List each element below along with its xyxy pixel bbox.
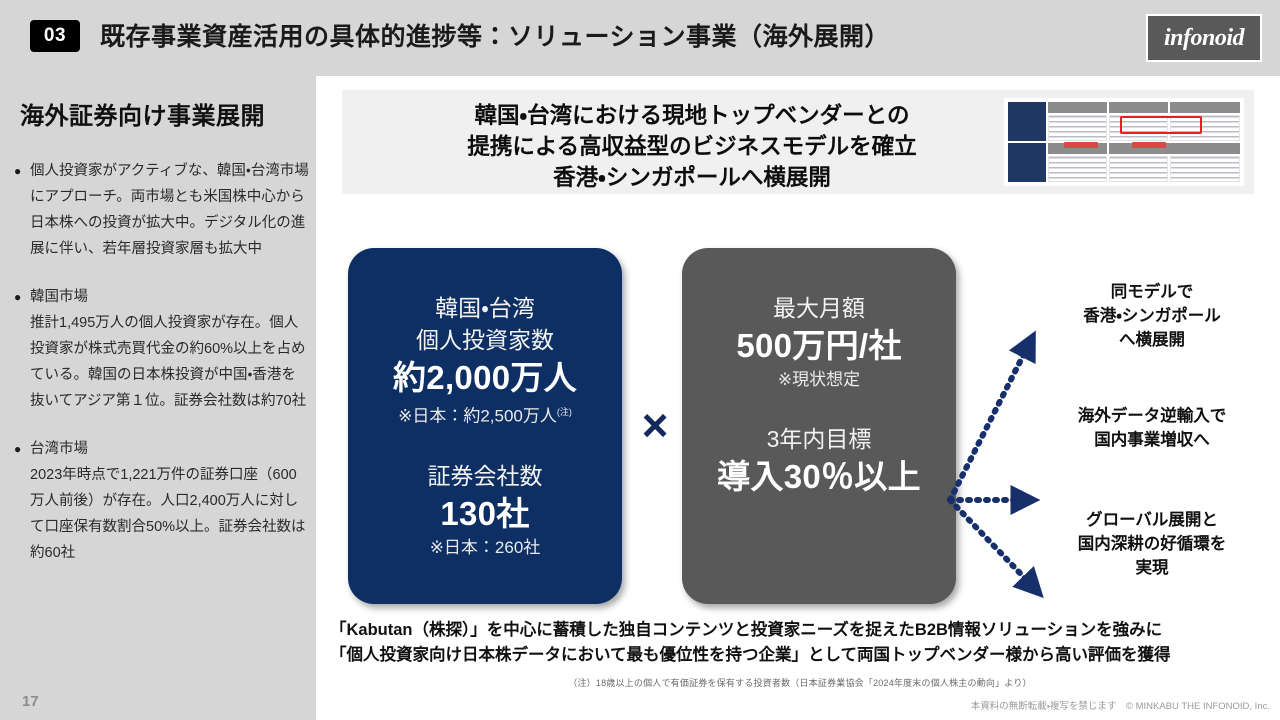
page-title: 既存事業資産活用の具体的進捗等：ソリューション事業（海外展開） xyxy=(100,17,890,53)
thumb-cell xyxy=(1170,102,1240,113)
company-logo-text: infonoid xyxy=(1164,25,1244,52)
copyright-notice: 本資料の無断転載・複写を禁じます © MINKABU THE INFONOID,… xyxy=(971,698,1270,712)
outcome-label-1: 同モデルで 香港・シンガポール へ横展開 xyxy=(1032,280,1272,352)
outcome-line-2: 国内事業増収へ xyxy=(1094,431,1210,449)
slide-root: 03 既存事業資産活用の具体的進捗等：ソリューション事業（海外展開） infon… xyxy=(0,0,1280,720)
metric-note: ※現状想定 xyxy=(682,367,956,393)
headline-line-3: 香港・シンガポールへ横展開 xyxy=(553,165,831,190)
outcome-line-2: 香港・シンガポール xyxy=(1083,307,1221,325)
thumb-cell xyxy=(1109,102,1168,113)
outcome-line-2: 国内深耕の好循環を xyxy=(1078,535,1227,553)
headline-line-1: 韓国・台湾における現地トップベンダーとの xyxy=(475,103,910,128)
main-content: 韓国・台湾における現地トップベンダーとの 提携による高収益型のビジネスモデルを確… xyxy=(316,76,1280,720)
arrow-to-outcome-1 xyxy=(950,338,1032,500)
metric-label: 韓国・台湾 xyxy=(348,292,622,324)
list-item: ● 韓国市場 推計1,495万人の個人投資家が存在。個人投資家が株式売買代金の約… xyxy=(14,284,310,414)
bullet-dot-icon: ● xyxy=(14,158,30,262)
bullet-text: 推計1,495万人の個人投資家が存在。個人投資家が株式売買代金の約60%以上を占… xyxy=(30,315,306,409)
thumb-vendor-logo-icon xyxy=(1132,142,1166,148)
metric-value: 導入30％以上 xyxy=(682,455,956,498)
outcome-line-3: 実現 xyxy=(1136,559,1169,577)
metric-label: 個人投資家数 xyxy=(348,324,622,356)
metric-block-brokerages: 証券会社数 130社 ※日本：260社 xyxy=(348,430,622,561)
multiply-operator-icon: × xyxy=(628,398,682,452)
headline-line-2: 提携による高収益型のビジネスモデルを確立 xyxy=(467,134,916,159)
metric-note: ※日本：260社 xyxy=(348,535,622,561)
summary-line-1: 「Kabutan（株探）」を中心に蓄積した独自コンテンツと投資家ニーズを捉えたB… xyxy=(330,618,1266,643)
arrow-to-outcome-3 xyxy=(950,500,1038,592)
bullet-dot-icon: ● xyxy=(14,436,30,566)
list-item: ● 台湾市場 2023年時点で1,221万件の証券口座（600万人前後）が存在。… xyxy=(14,436,310,566)
summary-line-2: 「個人投資家向け日本株データにおいて最も優位性を持つ企業」として両国トップベンダ… xyxy=(330,643,1266,668)
outcome-label-2: 海外データ逆輸入で 国内事業増収へ xyxy=(1032,404,1272,452)
headline-text: 韓国・台湾における現地トップベンダーとの 提携による高収益型のビジネスモデルを確… xyxy=(342,100,1042,193)
metric-label: 最大月額 xyxy=(682,292,956,324)
slide-header: 03 既存事業資産活用の具体的進捗等：ソリューション事業（海外展開） infon… xyxy=(0,0,1280,76)
thumb-cell xyxy=(1170,156,1240,182)
metric-block-monthly-fee: 最大月額 500万円/社 ※現状想定 xyxy=(682,248,956,393)
outcome-line-1: 同モデルで xyxy=(1111,283,1194,301)
bullet-text: 2023年時点で1,221万件の証券口座（600万人前後）が存在。人口2,400… xyxy=(30,467,306,561)
bullet-content: 韓国市場 推計1,495万人の個人投資家が存在。個人投資家が株式売買代金の約60… xyxy=(30,284,310,414)
bullet-text: 個人投資家がアクティブな、韓国・台湾市場にアプローチ。両市場とも米国株中心から日… xyxy=(30,158,310,262)
sidebar-bullet-list: ● 個人投資家がアクティブな、韓国・台湾市場にアプローチ。両市場とも米国株中心か… xyxy=(14,158,310,588)
footnote-text: （注）18歳以上の個人で有価証券を保有する投資者数（日本証券業協会「2024年度… xyxy=(330,676,1270,689)
metric-card-revenue-target: 最大月額 500万円/社 ※現状想定 3年内目標 導入30％以上 xyxy=(682,248,956,604)
thumb-cell xyxy=(1109,156,1168,182)
metric-block-investors: 韓国・台湾 個人投資家数 約2,000万人 ※日本：約2,500万人(注) xyxy=(348,248,622,430)
company-logo: infonoid xyxy=(1146,14,1262,62)
bullet-dot-icon: ● xyxy=(14,284,30,414)
bullet-heading: 台湾市場 xyxy=(30,441,88,457)
thumb-cell xyxy=(1048,115,1107,141)
thumb-cell xyxy=(1109,143,1240,154)
metric-block-adoption-target: 3年内目標 導入30％以上 xyxy=(682,393,956,498)
metric-note: ※日本：約2,500万人(注) xyxy=(348,399,622,430)
metric-value: 500万円/社 xyxy=(682,324,956,367)
bullet-heading: 韓国市場 xyxy=(30,289,88,305)
section-number-badge: 03 xyxy=(30,20,80,52)
thumb-cell xyxy=(1048,156,1107,182)
outcome-line-1: 海外データ逆輸入で xyxy=(1078,407,1227,425)
metric-label: 証券会社数 xyxy=(348,460,622,492)
metric-value: 約2,000万人 xyxy=(348,356,622,399)
list-item: ● 個人投資家がアクティブな、韓国・台湾市場にアプローチ。両市場とも米国株中心か… xyxy=(14,158,310,262)
metric-label: 3年内目標 xyxy=(682,423,956,455)
headline-banner: 韓国・台湾における現地トップベンダーとの 提携による高収益型のビジネスモデルを確… xyxy=(342,90,1254,194)
page-number: 17 xyxy=(22,693,39,710)
bullet-content: 台湾市場 2023年時点で1,221万件の証券口座（600万人前後）が存在。人口… xyxy=(30,436,310,566)
thumb-cell xyxy=(1008,143,1046,182)
summary-text: 「Kabutan（株探）」を中心に蓄積した独自コンテンツと投資家ニーズを捉えたB… xyxy=(316,618,1280,668)
thumbnail-grid xyxy=(1008,102,1240,182)
outcome-line-1: グローバル展開と xyxy=(1086,511,1218,529)
metric-card-market-scale: 韓国・台湾 個人投資家数 約2,000万人 ※日本：約2,500万人(注) 証券… xyxy=(348,248,622,604)
outcome-label-3: グローバル展開と 国内深耕の好循環を 実現 xyxy=(1032,508,1272,580)
metric-note-text: ※日本：約2,500万人 xyxy=(398,407,557,426)
sidebar: 海外証券向け事業展開 ● 個人投資家がアクティブな、韓国・台湾市場にアプローチ。… xyxy=(0,76,316,720)
reference-table-thumbnail xyxy=(1004,98,1244,186)
thumb-cell xyxy=(1048,102,1107,113)
outcome-line-3: へ横展開 xyxy=(1119,331,1185,349)
footnote-marker: (注) xyxy=(557,407,572,417)
metric-value: 130社 xyxy=(348,492,622,535)
thumbnail-highlight-box xyxy=(1120,116,1202,134)
sidebar-title: 海外証券向け事業展開 xyxy=(20,96,265,131)
thumb-cell xyxy=(1008,102,1046,141)
thumb-vendor-logo-icon xyxy=(1064,142,1098,148)
